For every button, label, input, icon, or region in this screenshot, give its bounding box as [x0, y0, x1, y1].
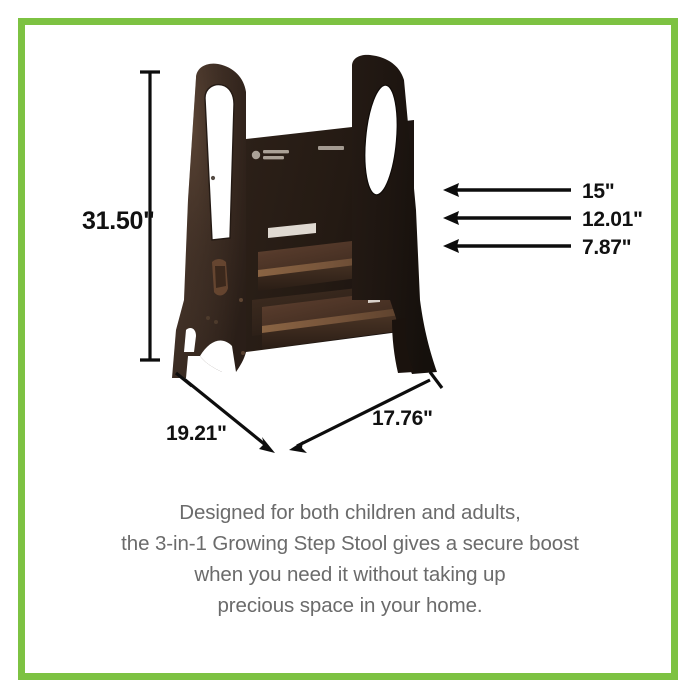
- back-panel-sticker: [318, 146, 344, 150]
- level-label-12in: 12.01": [582, 208, 643, 232]
- screw-dot: [211, 176, 215, 180]
- product-caption: Designed for both children and adults, t…: [40, 497, 660, 621]
- width-dimension-label: 17.76": [372, 407, 433, 431]
- depth-dimension-label: 19.21": [166, 422, 227, 446]
- caption-line-4: precious space in your home.: [40, 590, 660, 621]
- level-label-7in: 7.87": [582, 236, 631, 260]
- caption-line-3: when you need it without taking up: [40, 559, 660, 590]
- screw-dot: [239, 298, 243, 302]
- screw-dot: [214, 320, 218, 324]
- screw-dot: [206, 316, 210, 320]
- level-arrow-3: [443, 239, 571, 253]
- level-arrow-2: [443, 211, 571, 225]
- infographic-page: 31.50" 15" 12.01" 7.87" 19.21" 17.76" De…: [0, 0, 700, 700]
- height-dimension-label: 31.50": [82, 207, 155, 236]
- left-panel-bracket-shadow: [215, 266, 226, 288]
- product-illustration: [172, 55, 437, 392]
- screw-dot: [241, 351, 245, 355]
- caption-line-2: the 3-in-1 Growing Step Stool gives a se…: [40, 528, 660, 559]
- level-label-15in: 15": [582, 180, 614, 204]
- level-arrow-1: [443, 183, 571, 197]
- caption-line-1: Designed for both children and adults,: [40, 497, 660, 528]
